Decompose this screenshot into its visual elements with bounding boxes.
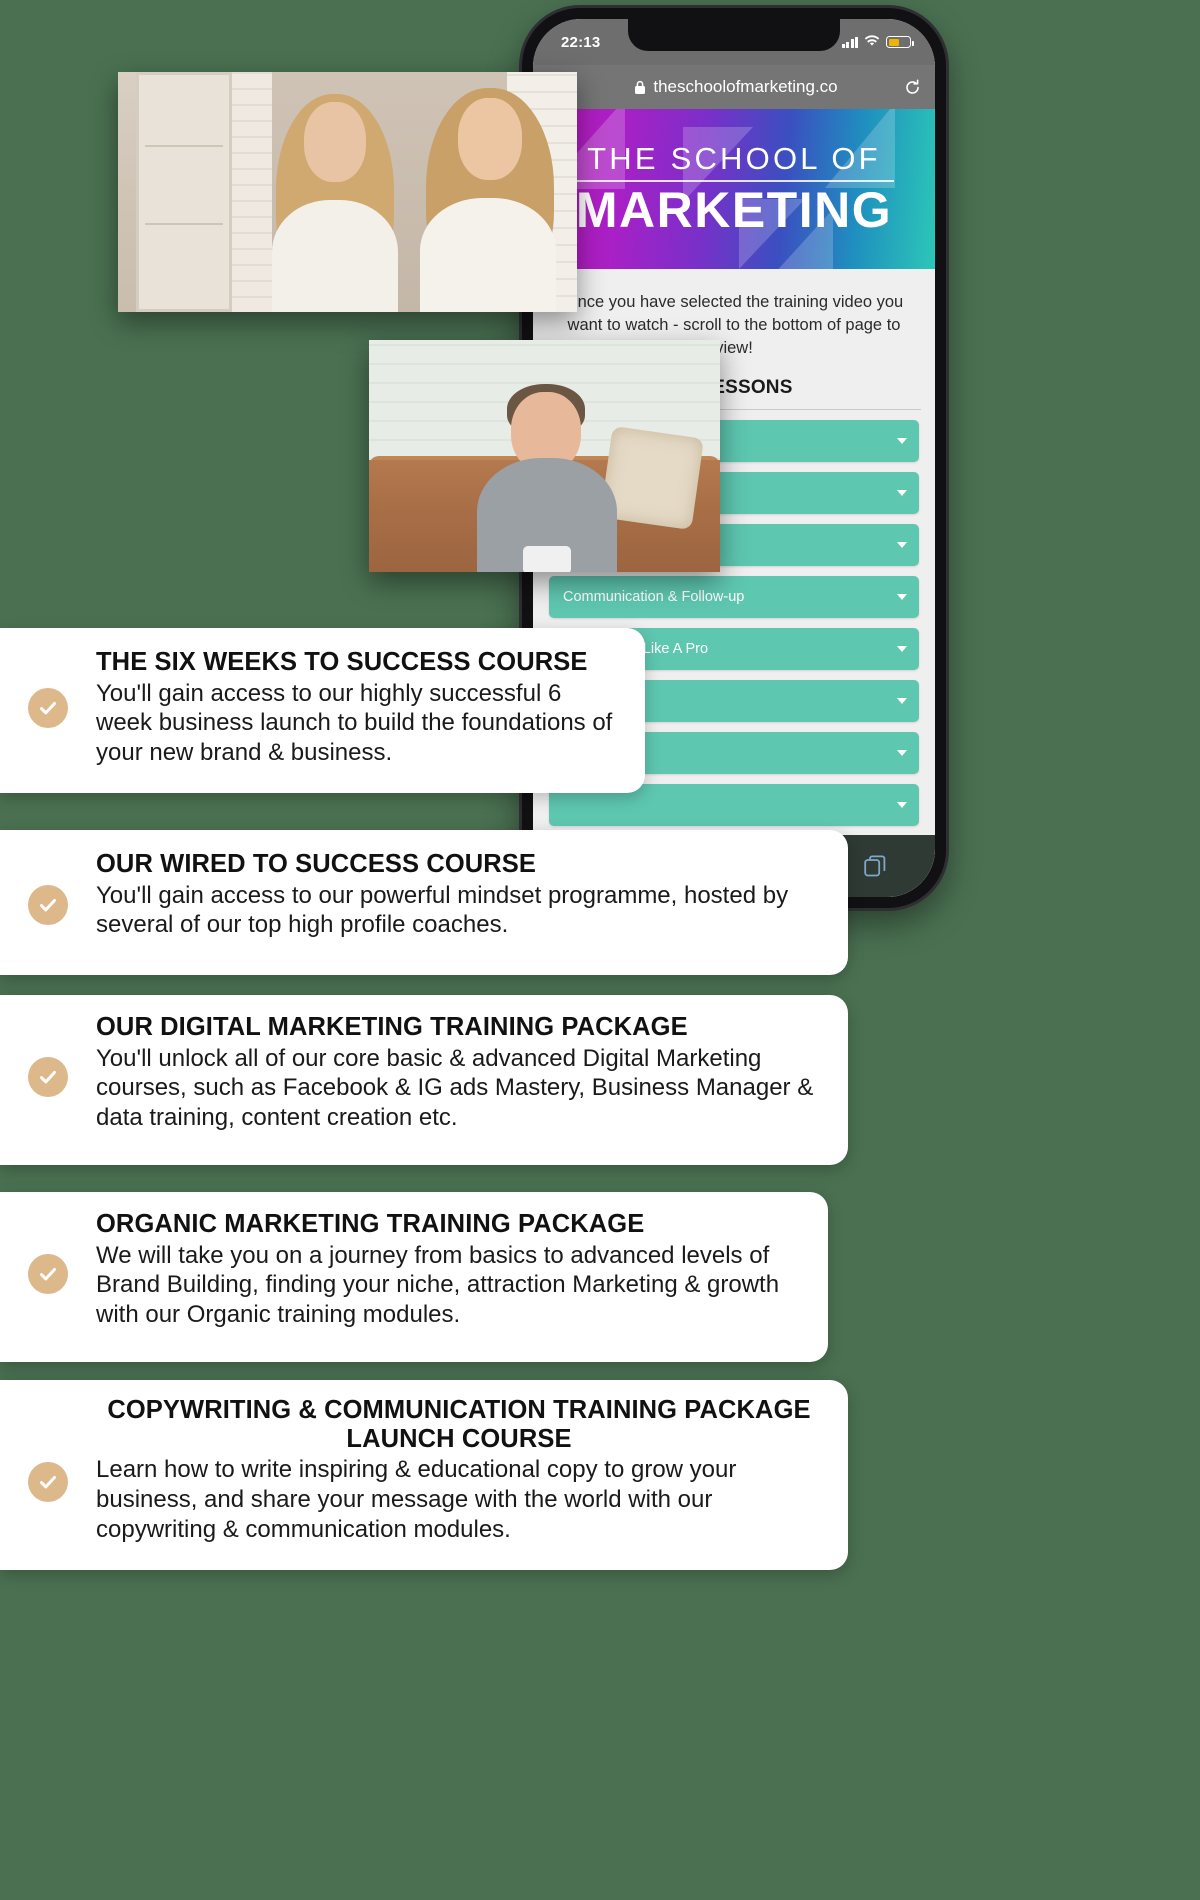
benefit-card: ORGANIC MARKETING TRAINING PACKAGE We wi… bbox=[0, 1192, 828, 1362]
check-circle-icon bbox=[28, 688, 68, 728]
chevron-down-icon[interactable] bbox=[897, 802, 907, 808]
tabs-icon[interactable] bbox=[864, 855, 886, 877]
url-text[interactable]: theschoolofmarketing.co bbox=[653, 77, 837, 97]
benefit-description: You'll unlock all of our core basic & ad… bbox=[96, 1044, 822, 1133]
chevron-down-icon[interactable] bbox=[897, 594, 907, 600]
two-presenters-video[interactable] bbox=[118, 72, 577, 312]
chevron-down-icon[interactable] bbox=[897, 698, 907, 704]
banner-line-1: THE SCHOOL OF bbox=[587, 141, 881, 177]
chevron-down-icon[interactable] bbox=[897, 490, 907, 496]
benefit-card: OUR DIGITAL MARKETING TRAINING PACKAGE Y… bbox=[0, 995, 848, 1165]
benefit-card: COPYWRITING & COMMUNICATION TRAINING PAC… bbox=[0, 1380, 848, 1570]
phone-notch bbox=[628, 19, 840, 51]
male-presenter-video[interactable] bbox=[369, 340, 720, 572]
cellular-bars-icon bbox=[842, 37, 859, 48]
chevron-down-icon[interactable] bbox=[897, 438, 907, 444]
benefit-description: We will take you on a journey from basic… bbox=[96, 1241, 802, 1330]
chevron-down-icon[interactable] bbox=[897, 542, 907, 548]
chevron-down-icon[interactable] bbox=[897, 646, 907, 652]
site-banner: THE SCHOOL OF MARKETING bbox=[533, 109, 935, 269]
chevron-down-icon[interactable] bbox=[897, 750, 907, 756]
lesson-label: Communication & Follow-up bbox=[563, 589, 744, 605]
benefit-description: Learn how to write inspiring & education… bbox=[96, 1455, 822, 1544]
check-circle-icon bbox=[28, 1462, 68, 1502]
status-time: 22:13 bbox=[555, 34, 600, 51]
benefit-description: You'll gain access to our highly success… bbox=[96, 679, 619, 768]
benefit-card: OUR WIRED TO SUCCESS COURSE You'll gain … bbox=[0, 830, 848, 975]
benefit-title: THE SIX WEEKS TO SUCCESS COURSE bbox=[96, 648, 619, 677]
banner-line-2: MARKETING bbox=[576, 184, 892, 237]
benefit-title: OUR DIGITAL MARKETING TRAINING PACKAGE bbox=[96, 1013, 822, 1042]
browser-url-bar[interactable]: A theschoolofmarketing.co bbox=[533, 65, 935, 109]
benefit-title: ORGANIC MARKETING TRAINING PACKAGE bbox=[96, 1210, 802, 1239]
benefit-description: You'll gain access to our powerful minds… bbox=[96, 881, 822, 941]
wifi-icon bbox=[864, 34, 880, 51]
check-circle-icon bbox=[28, 1057, 68, 1097]
check-circle-icon bbox=[28, 1254, 68, 1294]
battery-icon bbox=[886, 36, 911, 48]
benefit-title: OUR WIRED TO SUCCESS COURSE bbox=[96, 850, 822, 879]
reload-icon[interactable] bbox=[891, 79, 921, 96]
lesson-accordion-item[interactable]: Communication & Follow-up bbox=[549, 576, 919, 618]
lock-icon bbox=[634, 80, 646, 95]
check-circle-icon bbox=[28, 885, 68, 925]
benefit-card: THE SIX WEEKS TO SUCCESS COURSE You'll g… bbox=[0, 628, 645, 793]
benefit-title: COPYWRITING & COMMUNICATION TRAINING PAC… bbox=[96, 1396, 822, 1453]
